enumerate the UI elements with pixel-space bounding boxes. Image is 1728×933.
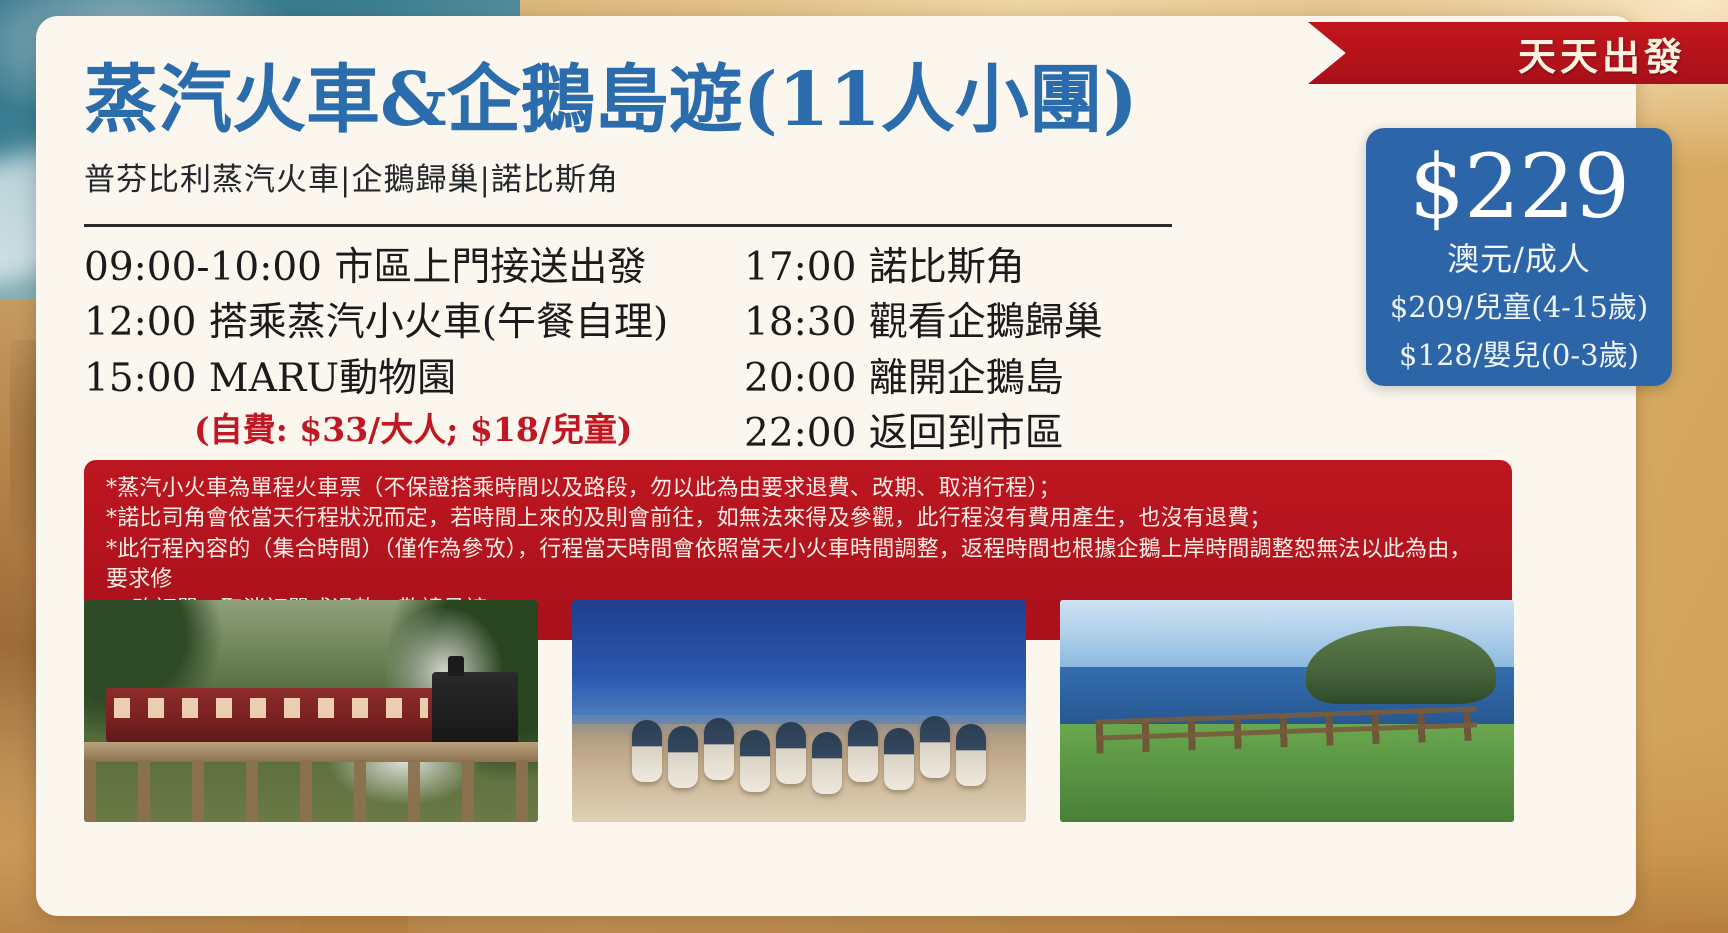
photo-penguin-parade xyxy=(572,600,1026,822)
schedule-column-right: 17:00 諾比斯角 18:30 觀看企鵝歸巢 20:00 離開企鵝島 22:0… xyxy=(744,240,1194,462)
title-divider xyxy=(84,224,1172,227)
penguin xyxy=(704,718,734,780)
page-subtitle: 普芬比利蒸汽火車|企鵝歸巢|諾比斯角 xyxy=(84,154,1204,199)
penguin xyxy=(776,722,806,784)
daily-departure-ribbon: 天天出發 xyxy=(1308,22,1728,84)
ribbon-label: 天天出發 xyxy=(1518,26,1686,81)
disclaimer-line: *蒸汽小火車為單程火車票（不保證搭乘時間以及路段，勿以此為由要求退費、改期、取消… xyxy=(106,474,1486,504)
penguin xyxy=(956,724,986,786)
schedule-item: 12:00 搭乘蒸汽小火車(午餐自理) xyxy=(84,295,744,350)
price-infant: $128/嬰兒(0-3歲) xyxy=(1399,334,1639,376)
schedule-item: 17:00 諾比斯角 xyxy=(744,240,1194,295)
schedule-column-left: 09:00-10:00 市區上門接送出發 12:00 搭乘蒸汽小火車(午餐自理)… xyxy=(84,240,744,462)
schedule-item: 20:00 離開企鵝島 xyxy=(744,351,1194,406)
trestle-bridge-deck xyxy=(84,742,538,762)
disclaimer-line: *諾比司角會依當天行程狀況而定，若時間上來的及則會前往，如無法來得及參觀，此行程… xyxy=(106,504,1486,534)
page-title: 蒸汽火車&企鵝島遊(11人小團) xyxy=(84,62,1204,140)
itinerary-schedule: 09:00-10:00 市區上門接送出發 12:00 搭乘蒸汽小火車(午餐自理)… xyxy=(84,240,1194,462)
disclaimer-line: *此行程內容的（集合時間）（僅作為參攷），行程當天時間會依照當天小火車時間調整，… xyxy=(106,535,1486,596)
penguin xyxy=(812,732,842,794)
penguin xyxy=(632,720,662,782)
schedule-item: 18:30 觀看企鵝歸巢 xyxy=(744,295,1194,350)
penguin xyxy=(920,716,950,778)
price-child: $209/兒童(4-15歲) xyxy=(1390,286,1648,328)
price-currency-unit: 澳元/成人 xyxy=(1447,234,1591,280)
penguin xyxy=(848,720,878,782)
penguin xyxy=(740,730,770,792)
photo-steam-train xyxy=(84,600,538,822)
title-block: 蒸汽火車&企鵝島遊(11人小團) 普芬比利蒸汽火車|企鵝歸巢|諾比斯角 xyxy=(84,62,1204,199)
photo-strip xyxy=(84,600,1514,822)
penguin xyxy=(884,728,914,790)
photo-nobbies-coastline xyxy=(1060,600,1514,822)
penguin xyxy=(668,726,698,788)
schedule-item: 22:00 返回到市區 xyxy=(744,406,1194,461)
schedule-item: 15:00 MARU動物園 xyxy=(84,351,744,406)
price-box: $229 澳元/成人 $209/兒童(4-15歲) $128/嬰兒(0-3歲) xyxy=(1366,128,1672,386)
train-carriages xyxy=(106,688,436,742)
price-adult-amount: $229 xyxy=(1409,132,1629,242)
schedule-item: 09:00-10:00 市區上門接送出發 xyxy=(84,240,744,295)
trestle-bridge-piers xyxy=(84,760,538,822)
schedule-extra-cost-note: (自費: $33/大人; $18/兒童) xyxy=(84,406,744,454)
locomotive xyxy=(432,672,518,746)
